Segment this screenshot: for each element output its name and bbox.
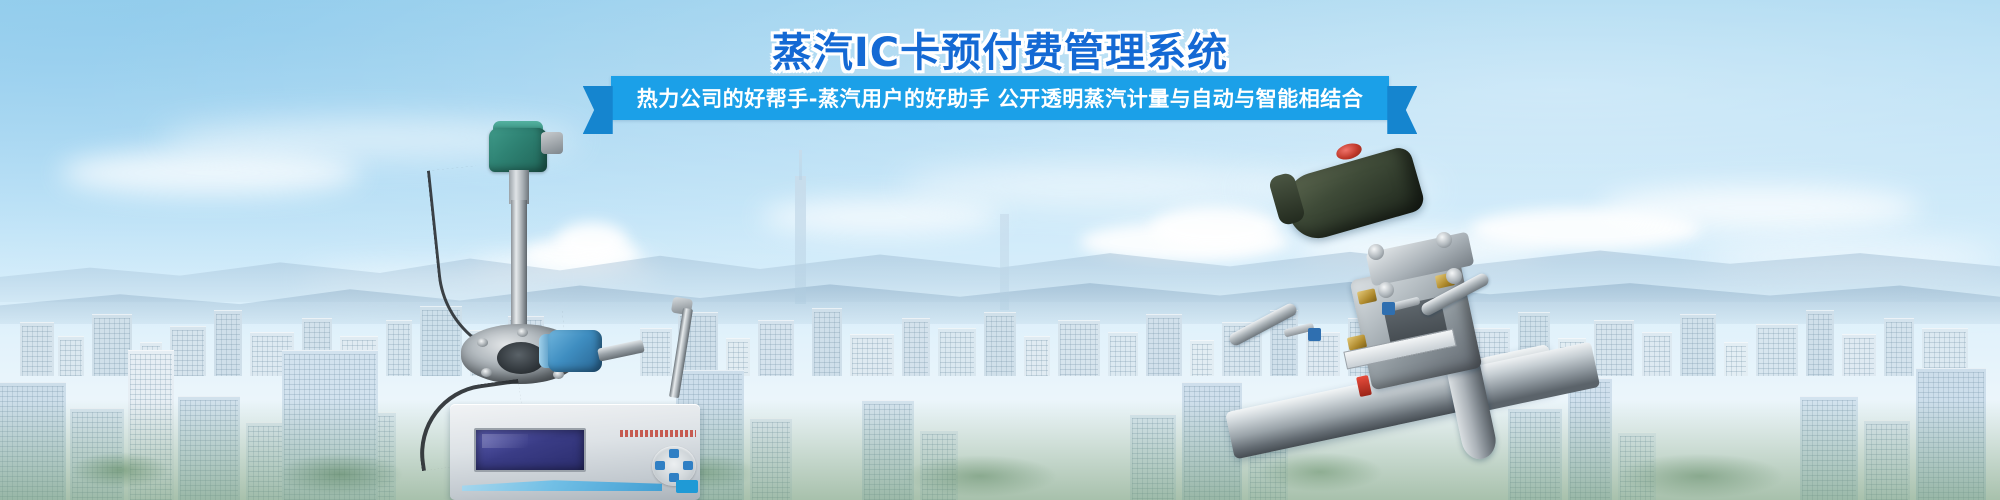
landmark-tower-spire xyxy=(799,150,802,180)
transmitter-head xyxy=(1279,145,1426,245)
page-title: 蒸汽IC卡预付费管理系统 xyxy=(0,20,2000,78)
subtitle-text: 热力公司的好帮手-蒸汽用户的好助手 公开透明蒸汽计量与自动与智能相结合 xyxy=(637,83,1364,113)
vortex-meter-cable-gland xyxy=(541,132,563,154)
subtitle-ribbon-wrap: 热力公司的好帮手-蒸汽用户的好助手 公开透明蒸汽计量与自动与智能相结合 xyxy=(0,76,2000,120)
manifold-bolt-icon xyxy=(1378,282,1394,298)
manifold-bolt-icon xyxy=(1368,244,1384,260)
key-left-icon[interactable] xyxy=(655,461,665,470)
controller-lcd-display xyxy=(474,428,586,472)
valve-nut-right xyxy=(1382,302,1395,315)
landmark-tower xyxy=(795,176,806,304)
subtitle-ribbon: 热力公司的好帮手-蒸汽用户的好助手 公开透明蒸汽计量与自动与智能相结合 xyxy=(611,76,1390,120)
differential-pressure-transmitter xyxy=(1240,140,1660,500)
vortex-meter-bore xyxy=(497,342,545,374)
flange-bolt-icon xyxy=(517,328,528,337)
probe-shaft xyxy=(669,308,693,398)
manifold-bolt-icon xyxy=(1446,268,1462,284)
vortex-meter-neck xyxy=(509,170,529,204)
valve-nut-left xyxy=(1308,328,1321,341)
orifice-flow-pipe-upper xyxy=(1473,342,1600,412)
ic-card-controller xyxy=(450,388,710,500)
controller-badge xyxy=(676,480,698,493)
flag-tail-right-icon xyxy=(1387,86,1417,134)
manifold-bolt-icon xyxy=(1436,232,1452,248)
flag-tail-left-icon xyxy=(583,86,613,134)
hero-banner: 蒸汽IC卡预付费管理系统 热力公司的好帮手-蒸汽用户的好助手 公开透明蒸汽计量与… xyxy=(0,0,2000,500)
foreground-trees xyxy=(0,430,2000,500)
vortex-meter-stem xyxy=(511,200,527,332)
flange-bolt-icon xyxy=(477,338,488,347)
controller-brand-text xyxy=(620,430,696,437)
key-right-icon[interactable] xyxy=(683,461,693,470)
vortex-meter-head xyxy=(489,128,547,172)
flange-bolt-icon xyxy=(481,368,492,377)
key-up-icon[interactable] xyxy=(669,449,679,458)
